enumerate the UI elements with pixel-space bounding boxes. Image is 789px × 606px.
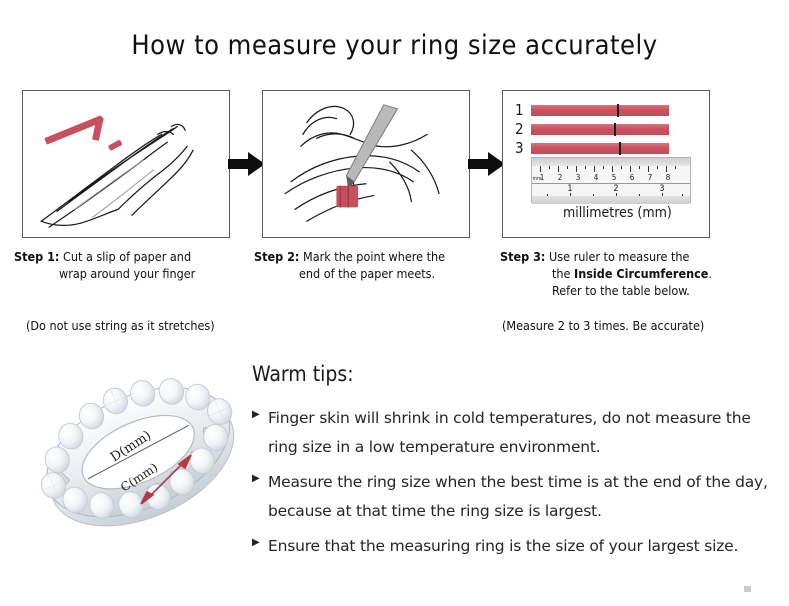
ring-size-guide-page: How to measure your ring size accurately — [0, 0, 789, 606]
paper-slip-shape — [44, 115, 122, 151]
step-3-label: Step 3: — [500, 249, 545, 264]
strip-number: 3 — [515, 141, 531, 156]
step-3-text-line2: the — [552, 266, 574, 281]
cm-tick-label: 8 — [666, 173, 671, 182]
step-1-caption: Step 1: Cut a slip of paper and wrap aro… — [14, 248, 250, 282]
strip-mark — [617, 104, 619, 117]
paper-strip — [531, 124, 669, 135]
warm-tips-section: Warm tips: ▶ Finger skin will shrink in … — [252, 362, 772, 567]
ruler: 1 2 3 4 5 6 7 8 mm 1 2 3 — [531, 157, 691, 203]
triangle-bullet-icon: ▶ — [252, 468, 268, 484]
paper-band-shape — [336, 186, 358, 208]
image-artifact — [744, 586, 751, 592]
ruler-unit-label: mm — [533, 176, 542, 182]
step-3-caption: Step 3: Use ruler to measure the the Ins… — [500, 248, 750, 299]
tip-item: ▶ Finger skin will shrink in cold temper… — [252, 404, 772, 462]
step-2-caption: Step 2: Mark the point where the end of … — [254, 248, 490, 282]
step-1-note: (Do not use string as it stretches) — [26, 318, 215, 333]
measured-strip-row: 2 — [515, 122, 669, 137]
measured-strip-row: 1 — [515, 103, 669, 118]
step-1-label: Step 1: — [14, 249, 59, 264]
warm-tips-heading: Warm tips: — [252, 362, 772, 386]
paper-strip — [531, 105, 669, 116]
step-2-text-line1: Mark the point where the — [303, 249, 445, 264]
tip-text: Ensure that the measuring ring is the si… — [268, 532, 738, 561]
hand-with-paper-slip-icon — [23, 91, 229, 237]
strip-mark — [614, 123, 616, 136]
step-3-text-line1: Use ruler to measure the — [549, 249, 689, 264]
cm-tick-label: 3 — [576, 173, 581, 182]
ruler-caption: millimetres (mm) — [563, 205, 672, 221]
tip-text: Measure the ring size when the best time… — [268, 468, 772, 526]
page-title: How to measure your ring size accurately — [0, 30, 789, 61]
steps-row: 1 2 3 — [0, 90, 789, 340]
step-1-text-line1: Cut a slip of paper and — [63, 249, 191, 264]
step-3-illustration: 1 2 3 — [502, 90, 710, 238]
hand-marking-paper-icon — [263, 91, 469, 237]
triangle-bullet-icon: ▶ — [252, 532, 268, 548]
step-2-illustration — [262, 90, 470, 238]
tip-item: ▶ Ensure that the measuring ring is the … — [252, 532, 772, 561]
tip-item: ▶ Measure the ring size when the best ti… — [252, 468, 772, 526]
step-1-illustration — [22, 90, 230, 238]
step-2-text-line2: end of the paper meets. — [254, 265, 490, 282]
tip-text: Finger skin will shrink in cold temperat… — [268, 404, 772, 462]
step-3-text-line3: Refer to the table below. — [500, 282, 750, 299]
strip-number: 1 — [515, 103, 531, 118]
step-1-text-line2: wrap around your finger — [14, 265, 250, 282]
strip-mark — [619, 142, 621, 155]
right-arrow-icon — [228, 150, 266, 178]
cm-tick-label: 7 — [648, 173, 653, 182]
step-3-note: (Measure 2 to 3 times. Be accurate) — [502, 318, 704, 333]
cm-tick-label: 2 — [558, 173, 563, 182]
right-arrow-icon — [468, 150, 506, 178]
step-2-label: Step 2: — [254, 249, 299, 264]
triangle-bullet-icon: ▶ — [252, 404, 268, 420]
diamond-eternity-ring-photo: D(mm) C(mm) — [28, 352, 250, 557]
paper-strip — [531, 143, 669, 154]
cm-tick-label: 4 — [594, 173, 599, 182]
cm-tick-label: 5 — [612, 173, 617, 182]
strip-number: 2 — [515, 122, 531, 137]
inside-circumference-emphasis: Inside Circumference — [574, 266, 708, 281]
cm-tick-label: 6 — [630, 173, 635, 182]
step-3-text-line2-tail: . — [708, 266, 712, 281]
measured-strip-row: 3 — [515, 141, 669, 156]
